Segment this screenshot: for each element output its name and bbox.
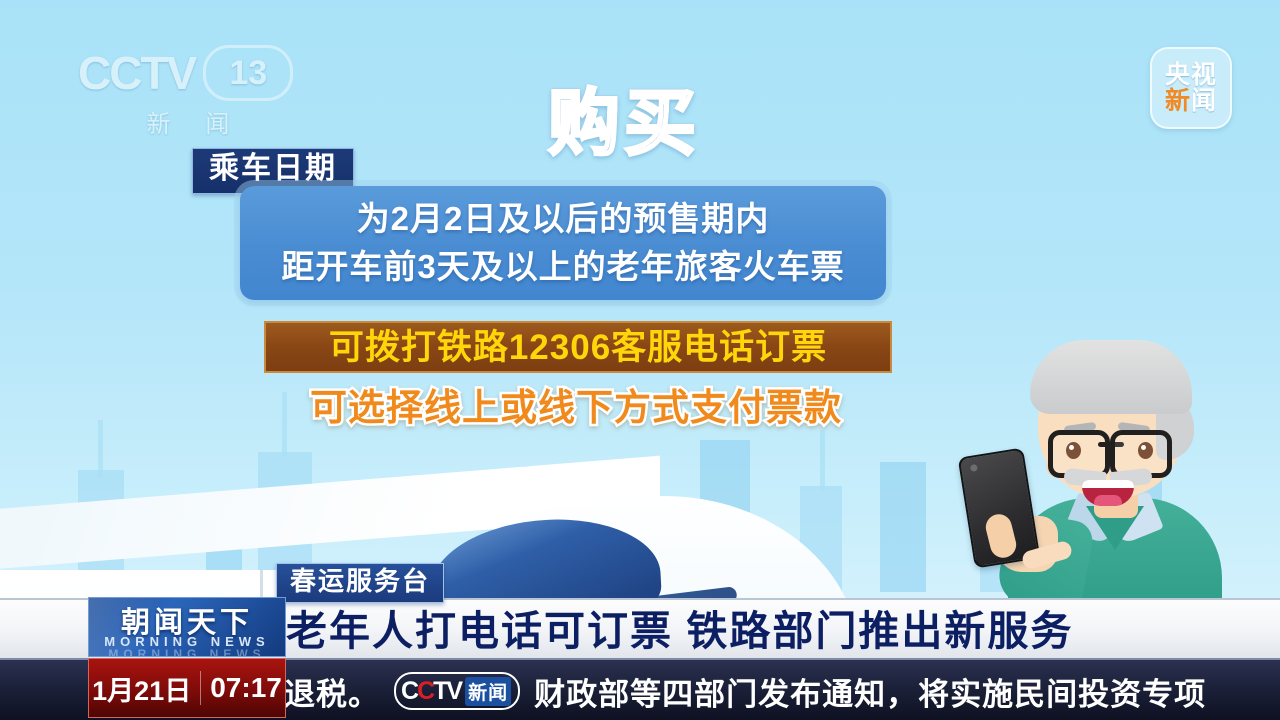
app-badge-line1: 央视 [1165, 62, 1217, 89]
headline-text: 老年人打电话可订票 铁路部门推出新服务 [286, 602, 1073, 660]
cctv-wordmark: CCTV [78, 50, 195, 96]
cctv-news-inline-logo: CCTV 新闻 [394, 672, 520, 710]
man-hair [1030, 340, 1192, 414]
cctv-letter-c2: C [417, 677, 433, 705]
man-tongue [1094, 495, 1122, 506]
cctv-inline-xinwen: 新闻 [465, 677, 511, 706]
broadcast-frame: CCTV 13 新 闻 央视 新闻 购买 乘车日期 为2月2日及以后的预售期内 … [0, 0, 1280, 720]
datetime-block: 1月21日 07:17 [88, 658, 286, 718]
channel-number-badge: 13 [203, 45, 293, 101]
app-badge-line2: 新闻 [1165, 88, 1217, 115]
info-card: 为2月2日及以后的预售期内 距开车前3天及以上的老年旅客火车票 [240, 186, 886, 300]
cctv-inline-wordmark: CCTV [401, 677, 461, 706]
cctv13-channel-logo: CCTV 13 新 闻 [78, 46, 298, 132]
category-tag: 春运服务台 [276, 563, 444, 603]
datetime-divider [200, 671, 201, 705]
info-line-1: 为2月2日及以后的预售期内 [357, 195, 770, 243]
app-badge-char-xin: 新 [1165, 87, 1191, 115]
program-logo: 朝闻天下 MORNING NEWS MORNING NEWS [88, 597, 286, 657]
cctv-news-app-badge: 央视 新闻 [1150, 47, 1232, 129]
hotline-band: 可拨打铁路12306客服电话订票 [264, 321, 892, 373]
ticker-row: 退税。 CCTV 新闻 财政部等四部门发布通知，将实施民间投资专项 [284, 660, 1206, 720]
elderly-man-illustration [960, 340, 1260, 610]
payment-note-text: 可选择线上或线下方式支付票款 [310, 377, 842, 431]
cctv13-logo-subtitle: 新 闻 [78, 104, 298, 139]
phone-camera [970, 464, 978, 472]
cctv-letters-tv: TV [433, 677, 461, 705]
man-teeth [1082, 480, 1134, 488]
program-name-en-reflection: MORNING NEWS [89, 647, 285, 657]
broadcast-date: 1月21日 [92, 669, 191, 708]
graphic-title: 购买 [548, 88, 700, 160]
eyeglasses-icon [1048, 430, 1172, 470]
info-line-2: 距开车前3天及以上的老年旅客火车票 [281, 243, 844, 291]
channel-number: 13 [229, 54, 267, 93]
broadcast-time: 07:17 [210, 672, 282, 704]
cctv13-logo-row: CCTV 13 [78, 46, 298, 100]
hotline-band-text: 可拨打铁路12306客服电话订票 [329, 330, 827, 365]
app-badge-char-wen: 闻 [1191, 87, 1217, 115]
payment-note: 可选择线上或线下方式支付票款 [266, 380, 886, 428]
ticker-prefix: 退税。 [284, 669, 380, 714]
building-shape [880, 462, 926, 592]
ticker-body: 财政部等四部门发布通知，将实施民间投资专项 [534, 669, 1206, 714]
cctv-letter-c1: C [401, 677, 417, 705]
